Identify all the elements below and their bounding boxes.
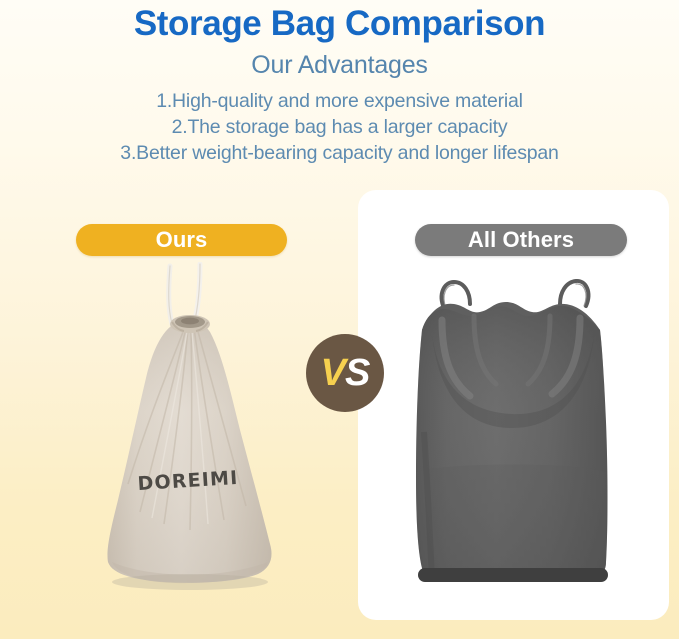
advantage-item-1: 1.High-quality and more expensive materi…: [0, 89, 679, 115]
page-subtitle: Our Advantages: [0, 51, 679, 80]
badge-all-others: All Others: [415, 224, 627, 256]
header: Storage Bag Comparison Our Advantages 1.…: [0, 0, 679, 167]
versus-letter-v: V: [321, 352, 345, 395]
versus-letter-s: S: [345, 352, 369, 395]
page-title: Storage Bag Comparison: [0, 4, 679, 44]
advantage-item-2: 2.The storage bag has a larger capacity: [0, 115, 679, 141]
advantage-item-3: 3.Better weight-bearing capacity and lon…: [0, 141, 679, 167]
badge-ours: Ours: [76, 224, 287, 256]
advantages-list: 1.High-quality and more expensive materi…: [0, 89, 679, 167]
versus-badge: VS: [306, 334, 384, 412]
